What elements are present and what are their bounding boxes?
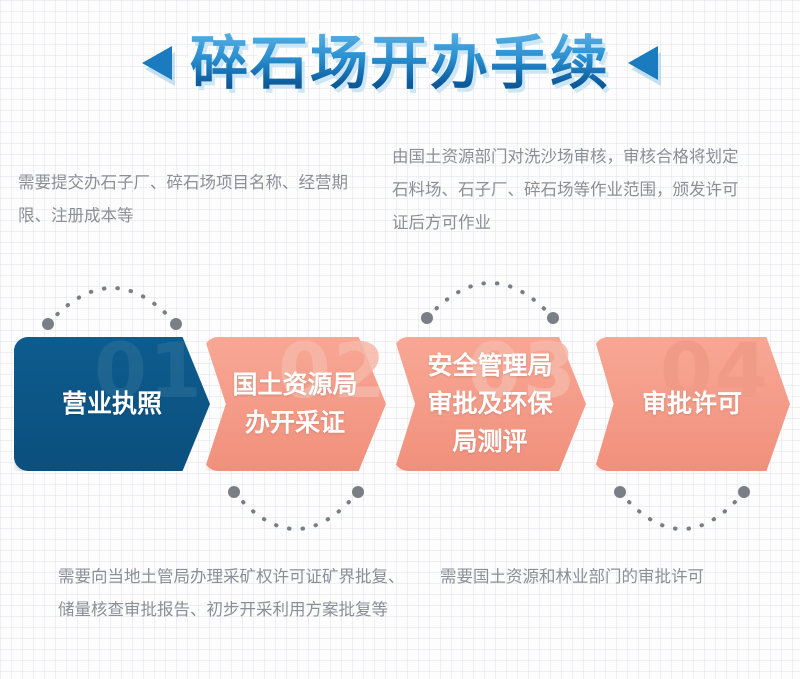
description-top-right: 由国土资源部门对洗沙场审核，审核合格将划定石料场、石子厂、碎石场等作业范围，颁发… <box>392 140 744 239</box>
connector-arc-bottom-right <box>620 492 744 529</box>
connector-endpoint <box>547 312 559 324</box>
flow-step-2[interactable]: 国土资源局 办开采证 <box>204 337 386 471</box>
connector-endpoint <box>170 318 182 330</box>
page-header: 碎石场开办手续 碎石场开办手续 碎石场开办手续 <box>0 20 800 106</box>
description-top-left: 需要提交办石子厂、碎石场项目名称、经营期限、注册成本等 <box>18 166 374 232</box>
flow-step-1[interactable]: 营业执照 <box>14 337 210 471</box>
description-bottom-left: 需要向当地土管局办理采矿权许可证矿界批复、储量核查审批报告、初步开采利用方案批复… <box>58 560 408 626</box>
connector-arc-top-right <box>427 283 553 318</box>
description-bottom-right: 需要国土资源和林业部门的审批许可 <box>440 560 790 593</box>
triangle-left-icon <box>142 46 172 80</box>
triangle-left-icon-right <box>628 46 658 80</box>
connector-endpoint <box>614 486 626 498</box>
connector-endpoint <box>421 312 433 324</box>
connector-endpoint <box>738 486 750 498</box>
infographic-page: 碎石场开办手续 碎石场开办手续 碎石场开办手续 需要提交办石子厂、碎石场项目名称… <box>0 0 800 679</box>
flow-step-3-label: 安全管理局 审批及环保 局测评 <box>427 347 552 461</box>
page-title: 碎石场开办手续 碎石场开办手续 碎石场开办手续 <box>190 34 610 92</box>
flow-step-4-label: 审批许可 <box>642 385 742 423</box>
flow-step-3[interactable]: 安全管理局 审批及环保 局测评 <box>394 337 586 471</box>
connector-endpoint <box>352 486 364 498</box>
connector-endpoint <box>42 318 54 330</box>
flow-step-1-label: 营业执照 <box>62 385 162 423</box>
process-flow: 营业执照 01 国土资源局 办开采证 02 安全管理局 审批及环保 局测评 03… <box>0 337 800 471</box>
page-title-text: 碎石场开办手续 <box>190 29 610 97</box>
connector-arc-bottom-left <box>234 492 358 529</box>
flow-step-2-label: 国土资源局 办开采证 <box>232 366 357 442</box>
flow-step-4[interactable]: 审批许可 <box>594 337 790 471</box>
connector-arc-top-left <box>48 288 176 324</box>
connector-endpoint <box>228 486 240 498</box>
